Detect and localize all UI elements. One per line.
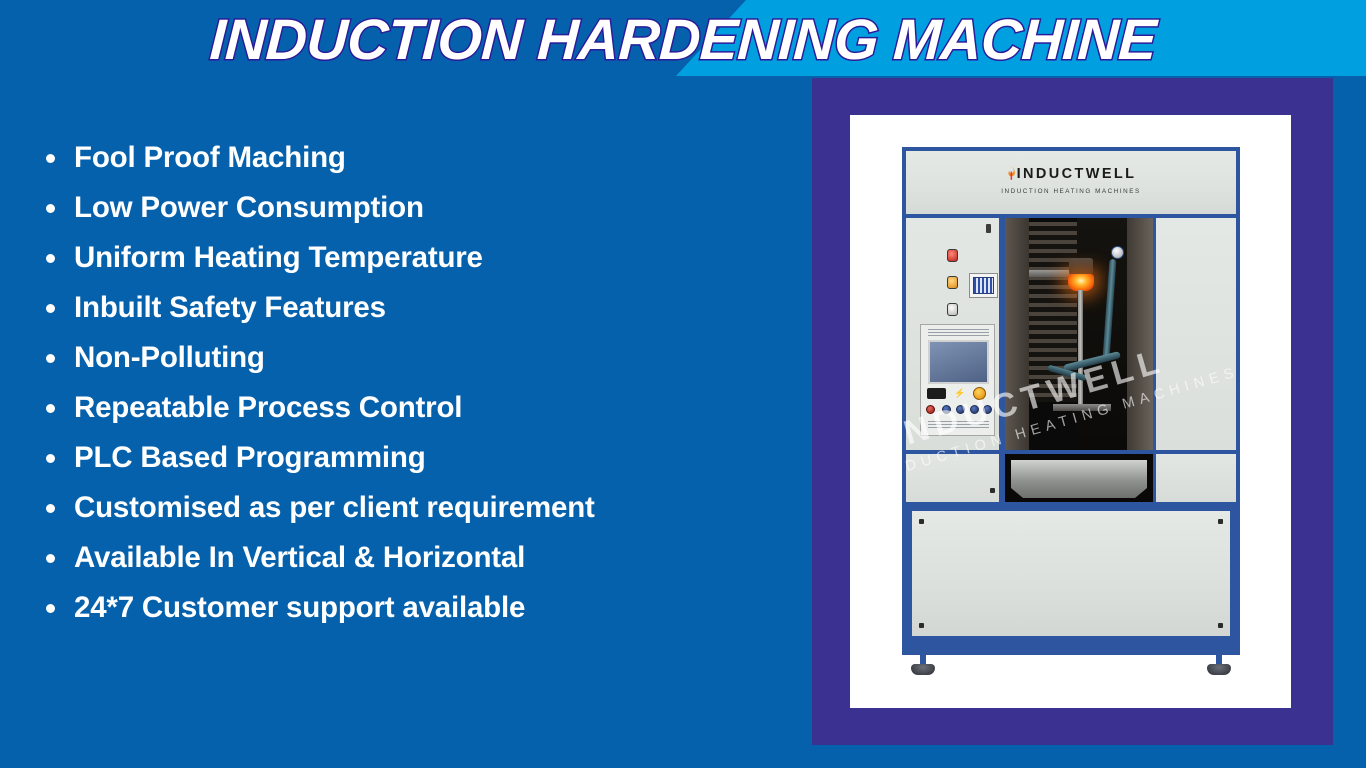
bullet-dot-icon	[46, 154, 55, 163]
watermark-flame-icon	[865, 426, 894, 459]
flame-icon	[1006, 166, 1017, 180]
feature-label: 24*7 Customer support available	[74, 591, 525, 624]
panel-screw	[1218, 519, 1223, 524]
brand-name-row: INDUCTWELL	[1006, 166, 1137, 182]
feature-label: Customised as per client requirement	[74, 491, 595, 524]
panel-screw	[1218, 623, 1223, 628]
feature-label: PLC Based Programming	[74, 441, 426, 474]
bullet-dot-icon	[46, 454, 55, 463]
lower-access-door	[912, 511, 1230, 636]
tray-chamber-opening	[1005, 454, 1153, 502]
meter-face	[973, 277, 994, 294]
pressure-gauge-icon	[1111, 246, 1124, 259]
feature-label: Uniform Heating Temperature	[74, 241, 483, 274]
push-button-2[interactable]	[956, 405, 965, 414]
indicator-lamp-white	[947, 303, 958, 316]
product-image-frame: INDUCTWELL INDUCTION HEATING MACHINES	[812, 78, 1333, 745]
list-item: Available In Vertical & Horizontal	[38, 533, 798, 583]
quench-tray	[1011, 460, 1147, 498]
list-item: Inbuilt Safety Features	[38, 283, 798, 333]
bullet-dot-icon	[46, 204, 55, 213]
bullet-dot-icon	[46, 404, 55, 413]
push-button-4[interactable]	[983, 405, 992, 414]
page-title: INDUCTION HARDENING MACHINE	[0, 7, 1366, 73]
machine-brand-logo: INDUCTWELL INDUCTION HEATING MACHINES	[906, 165, 1236, 195]
list-item: Non-Polluting	[38, 333, 798, 383]
feature-label: Low Power Consumption	[74, 191, 424, 224]
brand-name-text: INDUCTWELL	[1017, 166, 1137, 182]
bullet-dot-icon	[46, 354, 55, 363]
power-meter	[969, 273, 998, 298]
indicator-lamp-red	[947, 249, 958, 262]
product-image-mat: INDUCTWELL INDUCTION HEATING MACHINES	[850, 115, 1291, 708]
sensor-icon	[986, 224, 991, 233]
glowing-workpiece	[1068, 274, 1094, 291]
hmi-touchscreen[interactable]	[928, 340, 989, 384]
slide-canvas: INDUCTION HARDENING MACHINE Fool Proof M…	[0, 0, 1366, 768]
power-symbol-icon: ⚡	[954, 388, 966, 399]
bullet-dot-icon	[46, 554, 55, 563]
tray-panel-right	[1153, 454, 1236, 502]
machine-header-panel: INDUCTWELL INDUCTION HEATING MACHINES	[906, 151, 1236, 214]
workpiece-base-plate	[1053, 404, 1111, 411]
list-item: Customised as per client requirement	[38, 483, 798, 533]
list-item: 24*7 Customer support available	[38, 583, 798, 633]
feature-label: Inbuilt Safety Features	[74, 291, 386, 324]
induction-coil-head	[1069, 258, 1093, 275]
chamber-post-right	[1127, 218, 1153, 450]
selector-switch[interactable]	[927, 388, 946, 399]
hmi-footer-strip	[928, 421, 989, 428]
product-photo: INDUCTWELL INDUCTION HEATING MACHINES	[850, 115, 1291, 708]
chamber-post-left	[1005, 218, 1029, 450]
bullet-dot-icon	[46, 504, 55, 513]
control-panel: ⚡	[906, 218, 1002, 450]
tray-panel-left	[906, 454, 1002, 502]
side-access-panel	[1153, 218, 1236, 450]
panel-screw	[919, 519, 924, 524]
push-button-stop[interactable]	[926, 405, 935, 414]
bullet-dot-icon	[46, 304, 55, 313]
push-button-1[interactable]	[942, 405, 951, 414]
panel-screw	[990, 488, 995, 493]
indicator-lamp-amber	[947, 276, 958, 289]
machine-foot-right	[1207, 664, 1231, 675]
machine-lower-cabinet	[906, 506, 1236, 647]
machine-cabinet: INDUCTWELL INDUCTION HEATING MACHINES	[902, 147, 1240, 655]
push-button-row[interactable]	[926, 405, 992, 416]
feature-list: Fool Proof Maching Low Power Consumption…	[38, 133, 798, 633]
feature-label: Fool Proof Maching	[74, 141, 346, 174]
list-item: Fool Proof Maching	[38, 133, 798, 183]
heating-chamber-window	[1005, 218, 1153, 450]
push-button-3[interactable]	[970, 405, 979, 414]
list-item: PLC Based Programming	[38, 433, 798, 483]
hmi-console: ⚡	[920, 324, 995, 436]
list-item: Low Power Consumption	[38, 183, 798, 233]
emergency-stop-button[interactable]	[973, 387, 986, 400]
feature-label: Non-Polluting	[74, 341, 265, 374]
feature-label: Available In Vertical & Horizontal	[74, 541, 525, 574]
hmi-label-strip	[928, 329, 989, 337]
machine-foot-left	[911, 664, 935, 675]
bullet-dot-icon	[46, 604, 55, 613]
list-item: Repeatable Process Control	[38, 383, 798, 433]
machine-mid-section: ⚡	[906, 218, 1236, 450]
brand-tagline: INDUCTION HEATING MACHINES	[906, 188, 1236, 195]
bullet-dot-icon	[46, 254, 55, 263]
list-item: Uniform Heating Temperature	[38, 233, 798, 283]
panel-screw	[919, 623, 924, 628]
feature-label: Repeatable Process Control	[74, 391, 462, 424]
workpiece-shaft	[1078, 290, 1083, 408]
machine-tray-section	[906, 454, 1236, 502]
